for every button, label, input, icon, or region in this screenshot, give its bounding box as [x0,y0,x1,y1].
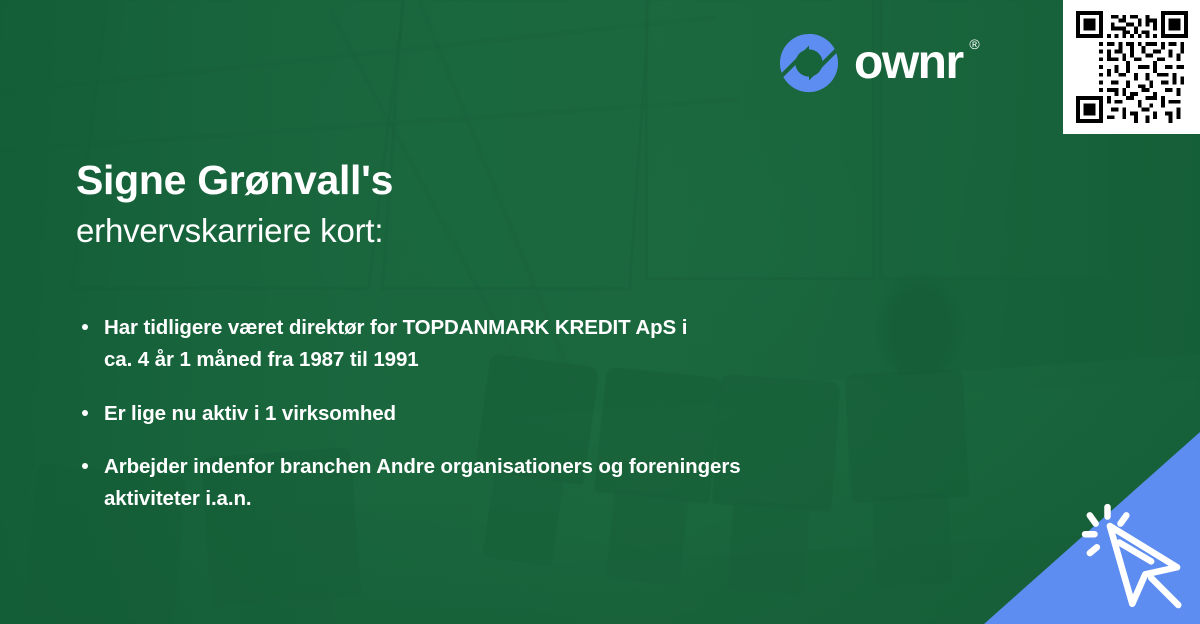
bullet-dot-icon [82,324,88,330]
qr-code-panel[interactable] [1063,0,1200,134]
list-item-line-1: Arbejder indenfor branchen Andre organis… [104,455,741,478]
title-line-primary: Signe Grønvall's [76,156,896,204]
list-item: Har tidligere været direktør for TOPDANM… [78,312,978,376]
list-item-line-1: Er lige nu aktiv i 1 virksomhed [104,402,396,425]
bullet-dot-icon [82,410,88,416]
page-title: Signe Grønvall's erhvervskarriere kort: [76,156,896,252]
ownr-logo[interactable]: ownr® [778,32,963,94]
ownr-wordmark: ownr® [854,39,963,87]
ownr-wordmark-text: ownr [854,36,963,89]
list-item-line-1: Har tidligere været direktør for TOPDANM… [104,316,687,339]
list-item-line-2: aktiviteter i.a.n. [104,483,978,515]
list-item: Er lige nu aktiv i 1 virksomhed [78,398,978,430]
qr-code-icon [1076,11,1188,123]
bullet-dot-icon [82,463,88,469]
list-item-line-2: ca. 4 år 1 måned fra 1987 til 1991 [104,344,978,376]
title-line-secondary: erhvervskarriere kort: [76,210,896,251]
share-card: ownr® Signe Grønvall's erhvervskarriere … [0,0,1200,624]
ownr-circular-swoosh-icon [778,32,840,94]
registered-trademark-symbol: ® [969,37,979,51]
career-summary-list: Har tidligere været direktør for TOPDANM… [78,312,978,515]
list-item: Arbejder indenfor branchen Andre organis… [78,451,978,515]
